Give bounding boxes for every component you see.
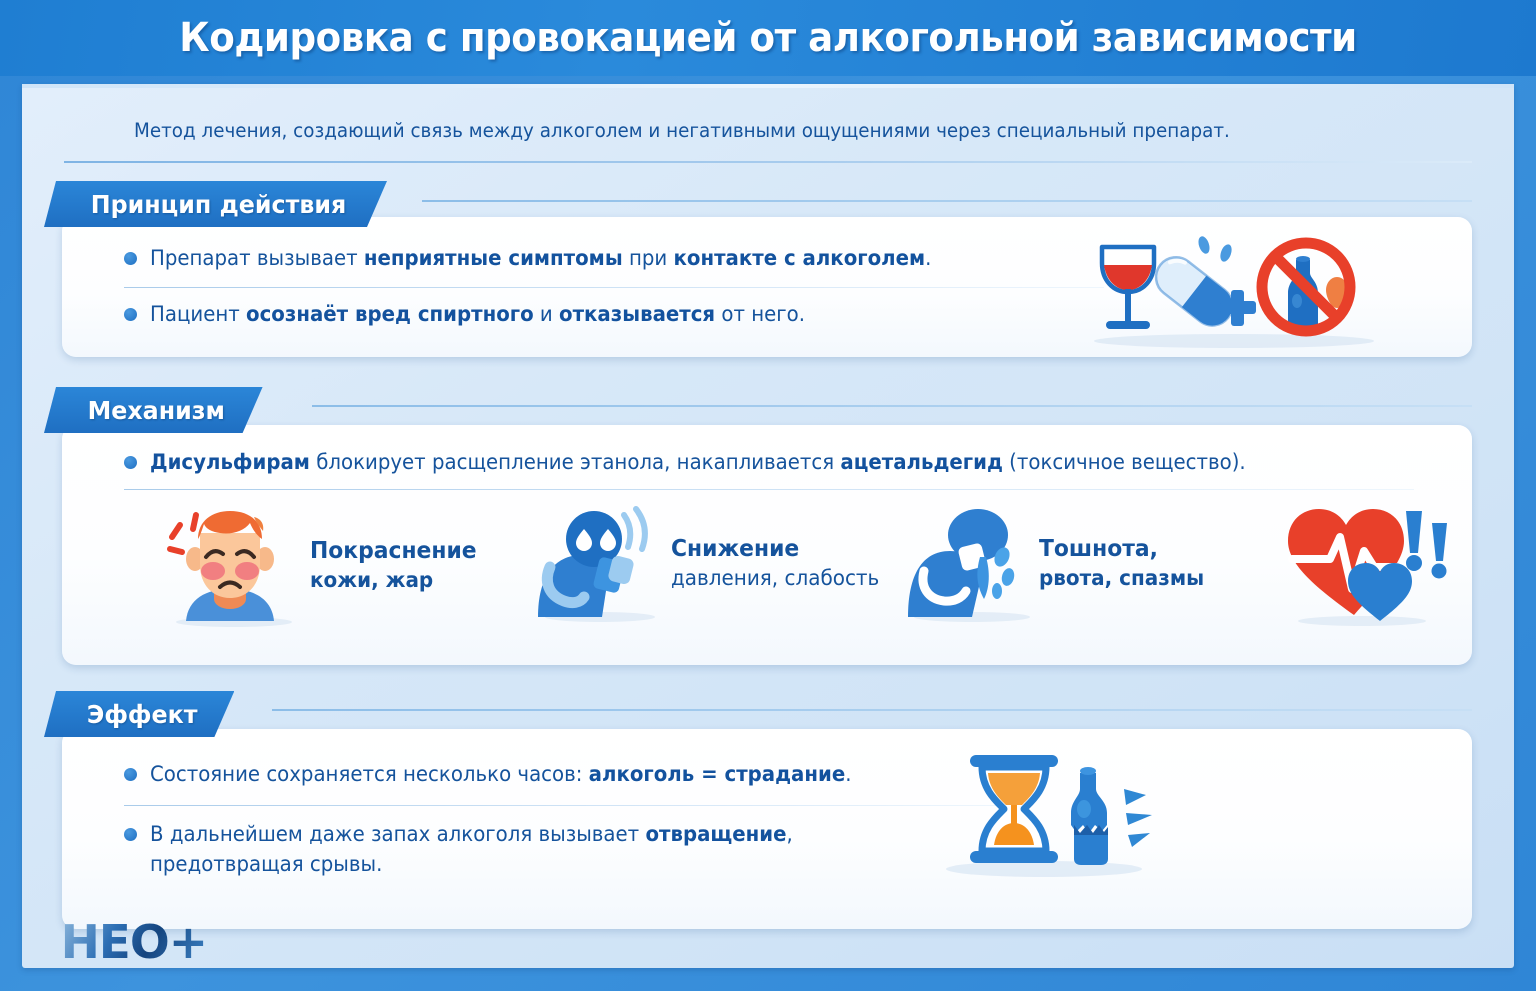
content-panel: Метод лечения, создающий связь между алк… xyxy=(22,84,1514,968)
bullet-row: Пациент осознаёт вред спиртного и отказы… xyxy=(124,299,1124,329)
glass-shard-icon xyxy=(1124,789,1152,847)
symptom-line-2: давления, слабость xyxy=(671,564,879,593)
bullet-text-principle-1: Препарат вызывает неприятные симптомы пр… xyxy=(150,243,931,273)
bullet-dot xyxy=(124,768,137,781)
brand-logo: НЕО+ xyxy=(61,915,207,969)
bullet-text-effect-2: В дальнейшем даже запах алкоголя вызывае… xyxy=(150,819,893,879)
bullet-dot xyxy=(124,456,137,469)
bullet-dot xyxy=(124,252,137,265)
symptom-low-pressure: Снижение давления, слабость xyxy=(532,505,890,623)
intro-divider xyxy=(64,161,1472,163)
section-title-principle: Принцип действия xyxy=(91,190,347,219)
card-principle: Препарат вызывает неприятные симптомы пр… xyxy=(62,217,1472,357)
section-ribbon-principle: Принцип действия xyxy=(44,181,387,227)
bullet-row: Дисульфирам блокирует расщепление этанол… xyxy=(124,447,1444,477)
vomiting-person-icon xyxy=(902,505,1037,623)
bullet-dot xyxy=(124,828,137,841)
symptom-line-1: Снижение xyxy=(671,535,879,564)
symptom-flushed-skin: Покраснение кожи, жар xyxy=(154,503,485,628)
symptom-label: Покраснение кожи, жар xyxy=(310,537,477,595)
symptom-line-1: Тошнота, xyxy=(1039,535,1204,564)
page-title: Кодировка с провокацией от алкогольной з… xyxy=(179,15,1356,61)
section-ribbon-mechanism: Механизм xyxy=(44,387,263,433)
section-title-effect: Эффект xyxy=(87,700,198,729)
bullet-text-effect-1: Состояние сохраняется несколько часов: а… xyxy=(150,759,852,789)
intro-text: Метод лечения, создающий связь между алк… xyxy=(134,119,1365,142)
dizzy-person-icon xyxy=(532,505,667,623)
bullet-text-principle-2: Пациент осознаёт вред спиртного и отказы… xyxy=(150,299,805,329)
symptom-heartbeat xyxy=(1282,497,1457,627)
bullet-text-mechanism-1: Дисульфирам блокирует расщепление этанол… xyxy=(150,447,1246,477)
flushed-face-icon xyxy=(154,503,304,628)
poster-header: Кодировка с провокацией от алкогольной з… xyxy=(0,0,1536,76)
bullet-separator xyxy=(124,287,1104,288)
no-alcohol-icon xyxy=(1262,243,1350,334)
bullet-dot xyxy=(124,308,137,321)
sparkle-icon xyxy=(1196,235,1233,263)
hourglass-icon xyxy=(970,755,1058,863)
principle-icon-group xyxy=(1084,225,1394,350)
section-ribbon-effect: Эффект xyxy=(44,691,234,737)
heartbeat-icon xyxy=(1282,497,1457,627)
symptom-line-1: Покраснение xyxy=(310,537,477,566)
bullet-separator xyxy=(124,489,1414,490)
symptom-label: Снижение давления, слабость xyxy=(671,535,879,593)
section-line-effect xyxy=(272,709,1472,711)
bullet-row: В дальнейшем даже запах алкоголя вызывае… xyxy=(124,819,964,879)
card-mechanism: Дисульфирам блокирует расщепление этанол… xyxy=(62,425,1472,665)
section-line-principle xyxy=(422,200,1472,202)
capsule-pill-icon xyxy=(1148,249,1240,333)
symptom-line-2: кожи, жар xyxy=(310,566,477,595)
symptom-line-2: рвота, спазмы xyxy=(1039,564,1204,593)
broken-bottle-icon xyxy=(1071,767,1108,865)
infographic-poster: Кодировка с провокацией от алкогольной з… xyxy=(0,0,1536,991)
section-line-mechanism xyxy=(312,405,1472,407)
exclamation-icon xyxy=(1406,511,1447,579)
card-effect: Состояние сохраняется несколько часов: а… xyxy=(62,729,1472,929)
bullet-separator xyxy=(124,805,1004,806)
section-title-mechanism: Механизм xyxy=(88,396,225,425)
symptom-nausea: Тошнота, рвота, спазмы xyxy=(902,505,1213,623)
symptom-label: Тошнота, рвота, спазмы xyxy=(1039,535,1204,593)
effect-icon-group xyxy=(934,743,1164,883)
bullet-row: Препарат вызывает неприятные симптомы пр… xyxy=(124,243,1124,273)
wine-glass-icon xyxy=(1102,247,1154,329)
